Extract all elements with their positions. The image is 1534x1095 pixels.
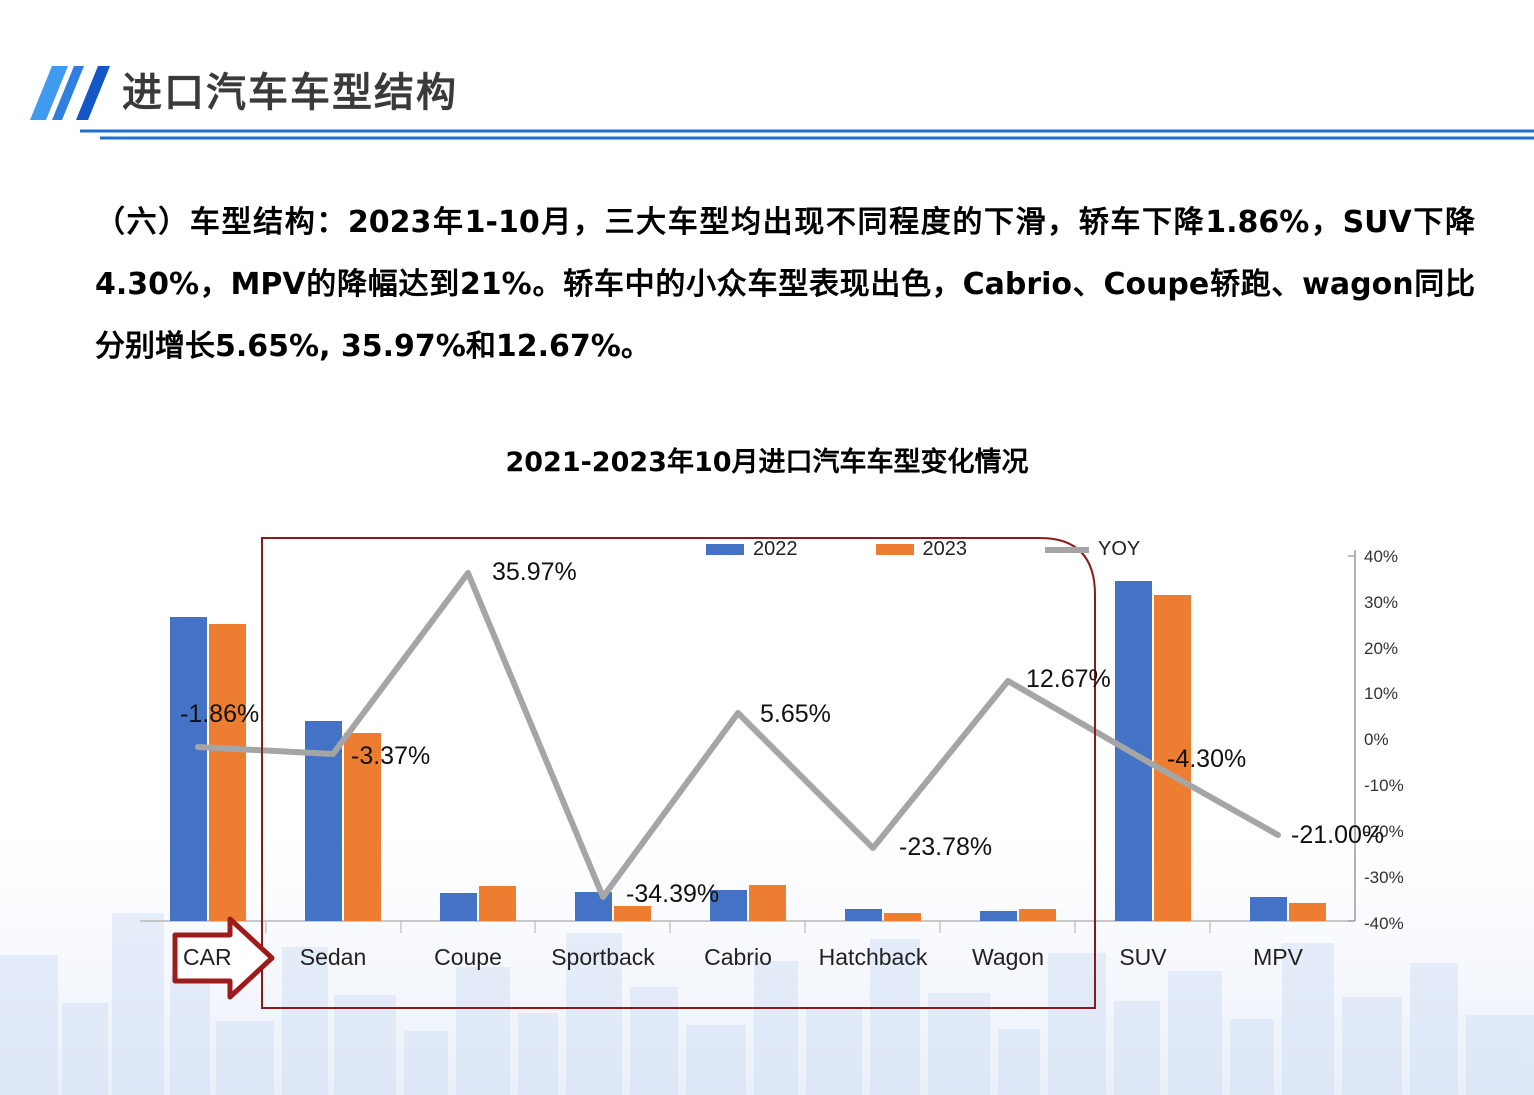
bar-2022-car: [170, 617, 207, 921]
legend-item-yoy[interactable]: YOY: [1045, 538, 1140, 561]
y-tick-n10: -10%: [1364, 776, 1404, 796]
legend-label-2022: 2022: [753, 538, 798, 561]
data-label-hatchback: -23.78%: [899, 833, 992, 862]
x-label-cabrio: Cabrio: [668, 944, 808, 971]
data-label-mpv: -21.00%: [1291, 821, 1384, 850]
x-axis-ticks: [266, 921, 1210, 933]
page-title: 进口汽车车型结构: [122, 60, 458, 118]
data-label-coupe: 35.97%: [492, 558, 577, 587]
legend-swatch-2023: [876, 544, 914, 555]
legend-label-2023: 2023: [923, 538, 968, 561]
bar-2023-coupe: [479, 886, 516, 921]
data-label-cabrio: 5.65%: [760, 700, 831, 729]
bar-2023-hatchback: [884, 913, 921, 921]
data-label-car: -1.86%: [180, 700, 259, 729]
legend-swatch-yoy: [1045, 547, 1089, 553]
bar-2022-coupe: [440, 893, 477, 921]
x-label-sportback: Sportback: [533, 944, 673, 971]
body-paragraph: （六）车型结构：2023年1-10月，三大车型均出现不同程度的下滑，轿车下降1.…: [95, 192, 1475, 378]
y-axis-right-ticks: [1348, 556, 1355, 921]
chart-title: 2021-2023年10月进口汽车车型变化情况: [0, 440, 1534, 479]
bar-2023-car: [209, 624, 246, 921]
header-divider: [0, 128, 1534, 144]
x-label-sedan: Sedan: [263, 944, 403, 971]
y-tick-n40: -40%: [1364, 914, 1404, 934]
bar-2023-cabrio: [749, 885, 786, 921]
bar-2023-mpv: [1289, 903, 1326, 921]
legend-label-yoy: YOY: [1098, 538, 1140, 561]
chart-legend: 2022 2023 YOY: [706, 538, 1140, 561]
y-tick-40: 40%: [1364, 547, 1398, 567]
y-tick-10: 10%: [1364, 684, 1398, 704]
legend-item-2023[interactable]: 2023: [876, 538, 968, 561]
data-label-sedan: -3.37%: [351, 742, 430, 771]
y-tick-20: 20%: [1364, 639, 1398, 659]
bar-2022-wagon: [980, 911, 1017, 921]
data-label-wagon: 12.67%: [1026, 665, 1111, 694]
y-tick-n30: -30%: [1364, 868, 1404, 888]
x-label-car: CAR: [183, 944, 232, 971]
bar-2022-hatchback: [845, 909, 882, 921]
data-label-suv: -4.30%: [1167, 745, 1246, 774]
data-label-sportback: -34.39%: [626, 880, 719, 909]
legend-swatch-2022: [706, 544, 744, 555]
bar-2022-mpv: [1250, 897, 1287, 921]
legend-item-2022[interactable]: 2022: [706, 538, 798, 561]
highlight-box: [262, 538, 1095, 1008]
chart-canvas: [0, 500, 1534, 1020]
y-tick-30: 30%: [1364, 593, 1398, 613]
slide-header: 进口汽车车型结构: [0, 48, 1534, 148]
x-label-wagon: Wagon: [938, 944, 1078, 971]
logo-icon: [22, 58, 112, 128]
x-label-coupe: Coupe: [398, 944, 538, 971]
bar-2023-wagon: [1019, 909, 1056, 921]
y-tick-0: 0%: [1364, 730, 1389, 750]
x-label-mpv: MPV: [1208, 944, 1348, 971]
x-label-suv: SUV: [1073, 944, 1213, 971]
x-label-hatchback: Hatchback: [803, 944, 943, 971]
